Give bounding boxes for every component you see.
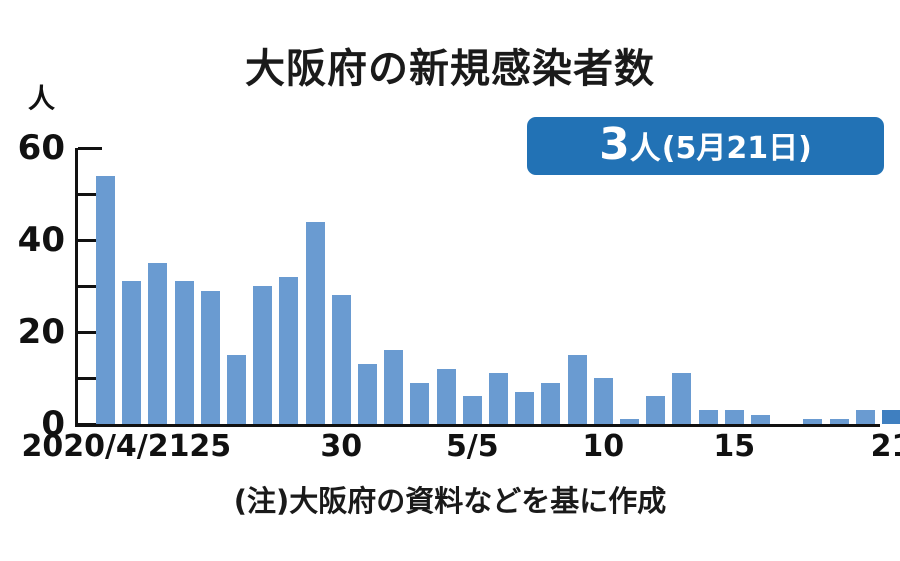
y-tick-label: 20 bbox=[18, 315, 65, 349]
bar bbox=[332, 295, 351, 424]
bar bbox=[803, 419, 822, 424]
x-tick-label: 21 bbox=[871, 432, 900, 462]
y-axis-unit-label: 人 bbox=[28, 86, 55, 113]
bar bbox=[594, 378, 613, 424]
bar bbox=[699, 410, 718, 424]
plot-area bbox=[75, 148, 880, 424]
bar bbox=[568, 355, 587, 424]
y-tick-label: 40 bbox=[18, 223, 65, 257]
bar bbox=[358, 364, 377, 424]
bar bbox=[725, 410, 744, 424]
bar bbox=[751, 415, 770, 424]
x-tick-label: 15 bbox=[713, 432, 755, 462]
x-tick-label: 10 bbox=[582, 432, 624, 462]
bar bbox=[541, 383, 560, 424]
bar bbox=[227, 355, 246, 424]
x-axis-line bbox=[75, 424, 880, 427]
bar bbox=[306, 222, 325, 424]
bar bbox=[515, 392, 534, 424]
bar bbox=[882, 410, 900, 424]
bar bbox=[410, 383, 429, 424]
page-title: 大阪府の新規感染者数 bbox=[0, 36, 900, 94]
bars-layer bbox=[75, 148, 880, 424]
bar bbox=[96, 176, 115, 424]
bar bbox=[620, 419, 639, 424]
x-axis-labels: 2020/4/2125305/5101521 bbox=[0, 432, 900, 472]
bar bbox=[489, 373, 508, 424]
x-tick-label: 25 bbox=[189, 432, 231, 462]
x-tick-label: 2020/4/21 bbox=[21, 432, 189, 462]
bar bbox=[279, 277, 298, 424]
bar bbox=[672, 373, 691, 424]
y-tick-label: 60 bbox=[18, 131, 65, 165]
bar bbox=[201, 291, 220, 424]
bar bbox=[830, 419, 849, 424]
bar bbox=[646, 396, 665, 424]
chart-figure: 大阪府の新規感染者数 3 人 (5月21日) 人 0204060 2020/4/… bbox=[0, 0, 900, 561]
x-tick-label: 5/5 bbox=[446, 432, 499, 462]
bar bbox=[122, 281, 141, 424]
footnote: (注)大阪府の資料などを基に作成 bbox=[0, 478, 900, 520]
bar bbox=[437, 369, 456, 424]
x-tick-label: 30 bbox=[320, 432, 362, 462]
bar bbox=[175, 281, 194, 424]
bar bbox=[253, 286, 272, 424]
bar bbox=[856, 410, 875, 424]
bar bbox=[148, 263, 167, 424]
bar bbox=[463, 396, 482, 424]
bar bbox=[384, 350, 403, 424]
